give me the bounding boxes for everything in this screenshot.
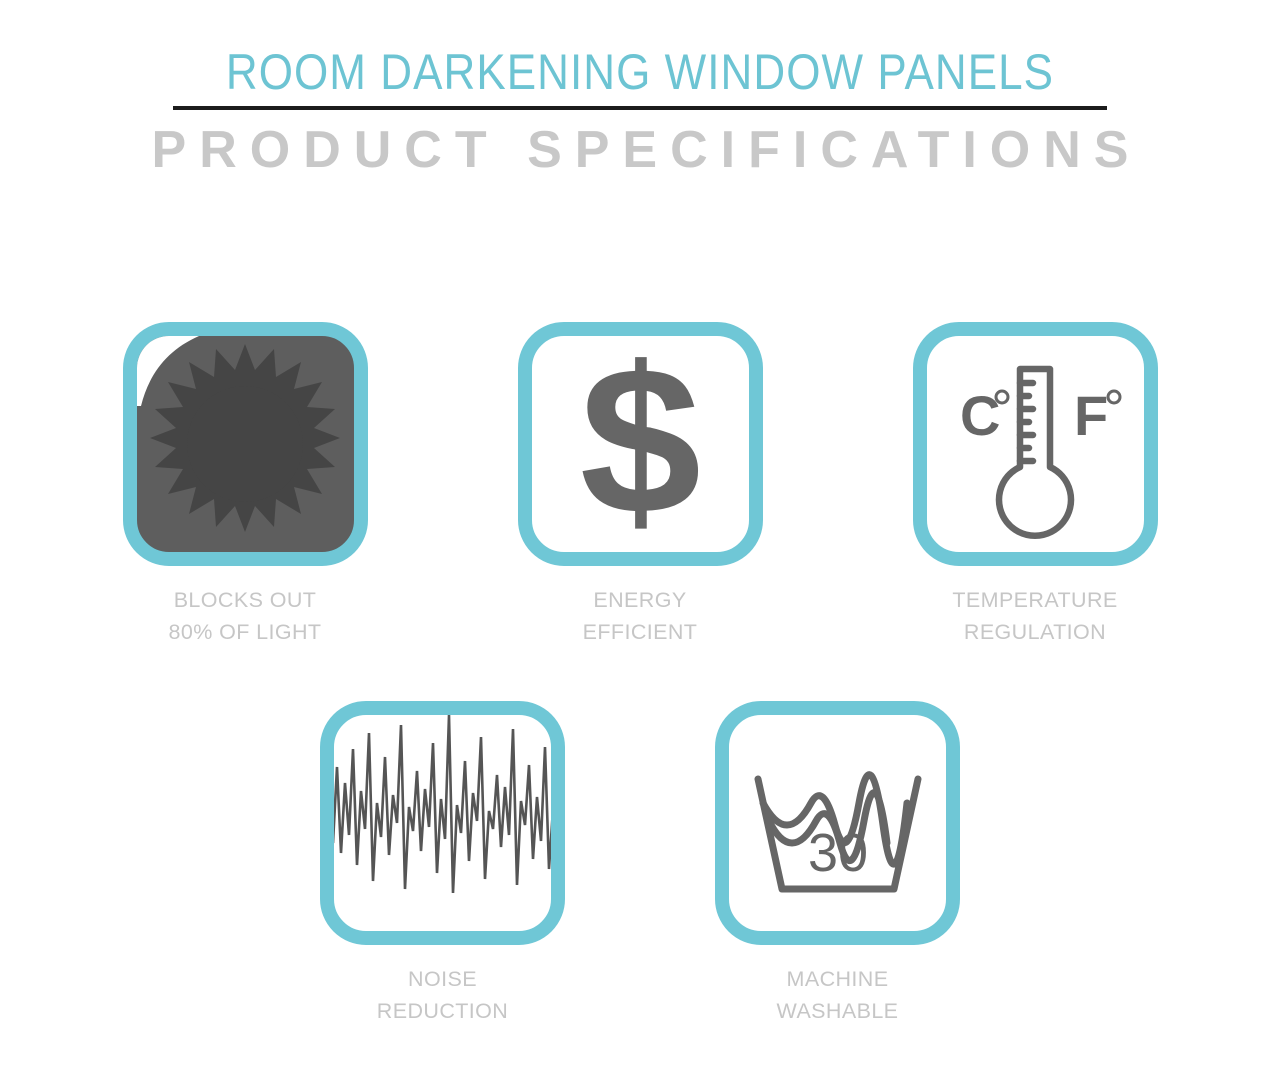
caption-line-2: WASHABLE [777, 995, 899, 1027]
spec-card-energy-efficient: $ [518, 322, 763, 566]
spec-row-bottom: NOISE REDUCTION 30 [0, 701, 1280, 1027]
caption-line-1: TEMPERATURE [952, 588, 1117, 612]
spec-caption-blocks-light: BLOCKS OUT 80% OF LIGHT [169, 584, 322, 648]
caption-line-1: BLOCKS OUT [174, 588, 317, 612]
spec-caption-machine-washable: MACHINE WASHABLE [777, 963, 899, 1027]
caption-line-1: NOISE [408, 967, 477, 991]
dollar-sign-icon: $ [579, 351, 700, 531]
spec-caption-temperature: TEMPERATURE REGULATION [952, 584, 1117, 648]
caption-line-2: EFFICIENT [583, 616, 698, 648]
blocked-sun-icon [137, 336, 353, 552]
spec-item-energy-efficient: $ ENERGY EFFICIENT [518, 322, 763, 648]
thermometer-icon: C F [932, 341, 1138, 547]
svg-text:C: C [960, 384, 1000, 447]
wash-tub-icon: 30 [738, 723, 938, 923]
spec-item-machine-washable: 30 MACHINE WASHABLE [715, 701, 960, 1027]
spec-caption-energy-efficient: ENERGY EFFICIENT [583, 584, 698, 648]
header-divider-wrap [0, 106, 1280, 110]
page-title: ROOM DARKENING WINDOW PANELS [77, 0, 1203, 100]
caption-line-1: ENERGY [593, 588, 686, 612]
caption-line-2: 80% OF LIGHT [169, 616, 322, 648]
spec-card-temperature: C F [913, 322, 1158, 566]
spec-item-temperature: C F TEMPERATURE REGULATION [913, 322, 1158, 648]
wash-temperature-label: 30 [807, 823, 867, 883]
spec-item-blocks-light: BLOCKS OUT 80% OF LIGHT [123, 322, 368, 648]
spec-caption-noise-reduction: NOISE REDUCTION [377, 963, 508, 1027]
page-subtitle: PRODUCT SPECIFICATIONS [0, 120, 1280, 180]
caption-line-2: REDUCTION [377, 995, 508, 1027]
svg-text:F: F [1074, 384, 1108, 447]
caption-line-2: REGULATION [952, 616, 1117, 648]
spec-card-blocks-light [123, 322, 368, 566]
header-divider [173, 106, 1107, 110]
spec-item-noise-reduction: NOISE REDUCTION [320, 701, 565, 1027]
caption-line-1: MACHINE [787, 967, 889, 991]
spec-row-top: BLOCKS OUT 80% OF LIGHT $ ENERGY EFFICIE… [0, 322, 1280, 648]
spec-card-machine-washable: 30 [715, 701, 960, 945]
spec-card-noise-reduction [320, 701, 565, 945]
sound-waveform-icon [323, 703, 563, 943]
page-header: ROOM DARKENING WINDOW PANELS PRODUCT SPE… [0, 0, 1280, 180]
